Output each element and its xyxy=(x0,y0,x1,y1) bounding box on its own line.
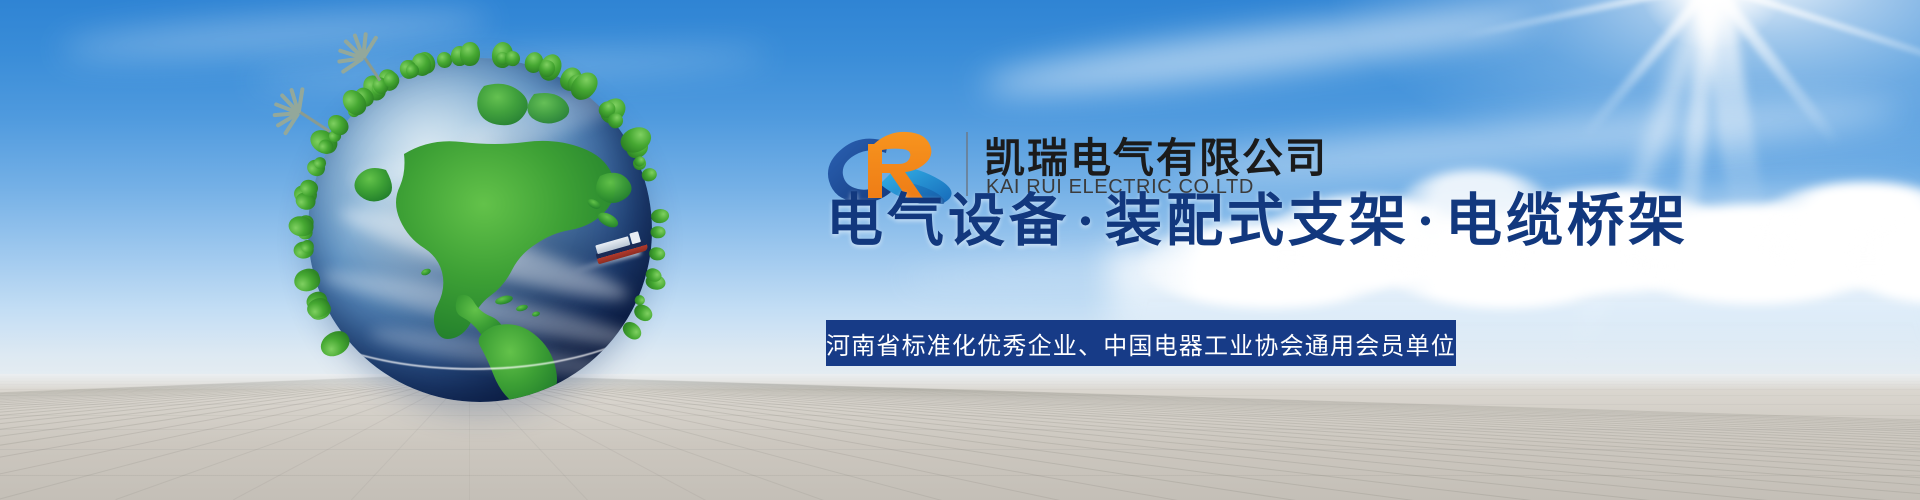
logo-divider xyxy=(966,132,968,196)
globe-sphere xyxy=(308,58,652,402)
company-name-cn: 凯瑞电气有限公司 xyxy=(984,124,1328,184)
ground-seam-line xyxy=(0,449,1920,450)
headline-separator: · xyxy=(1070,190,1105,253)
headline-separator: · xyxy=(1410,190,1445,253)
headline-part-3: 电缆桥架 xyxy=(1445,190,1689,253)
eco-globe-graphic xyxy=(286,42,676,442)
headline-part-2: 装配式支架 xyxy=(1105,190,1410,253)
hero-banner: 凯瑞电气有限公司 KAI RUI ELECTRIC CO.LTD 电气设备·装配… xyxy=(0,0,1920,500)
headline-part-1: 电气设备 xyxy=(826,190,1070,253)
contrail-arc xyxy=(308,254,652,402)
page-title: 电气设备·装配式支架·电缆桥架 xyxy=(826,190,1689,254)
tree-icon xyxy=(650,208,670,224)
credential-text: 河南省标准化优秀企业、中国电器工业协会通用会员单位 xyxy=(826,326,1456,361)
credential-badge-bar: 河南省标准化优秀企业、中国电器工业协会通用会员单位 xyxy=(826,320,1456,366)
tree-icon xyxy=(651,226,666,238)
ground-seam-line xyxy=(0,475,1920,476)
